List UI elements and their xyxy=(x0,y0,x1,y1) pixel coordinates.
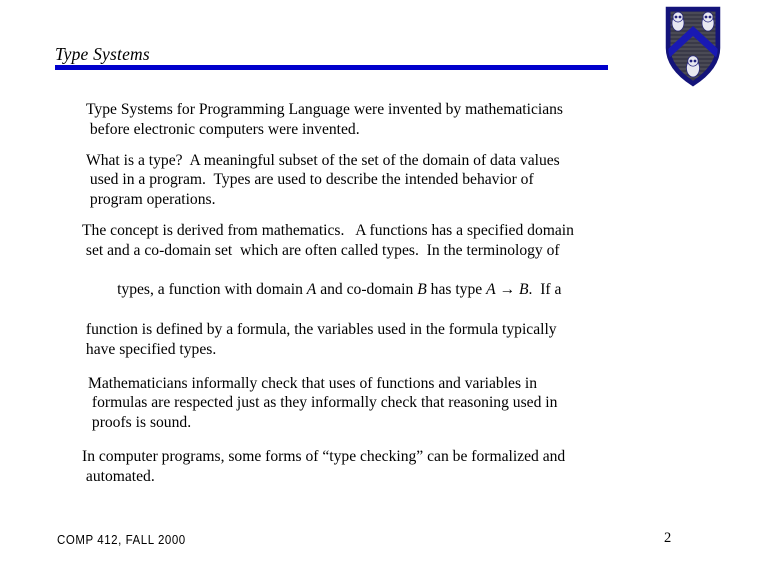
footer-course-label: COMP 412, FALL 2000 xyxy=(57,533,186,547)
arrow-glyph: → xyxy=(496,281,519,298)
paragraph-3-line-3-seg-d: . If a xyxy=(529,281,562,298)
paragraph-2: What is a type? A meaningful subset of t… xyxy=(86,151,675,210)
paragraph-5-line-2: automated. xyxy=(82,467,675,487)
page-title: Type Systems xyxy=(55,44,615,64)
paragraph-3-line-4: function is defined by a formula, the va… xyxy=(82,320,675,340)
paragraph-4-line-3: proofs is sound. xyxy=(88,413,675,433)
paragraph-1-line-1: Type Systems for Programming Language we… xyxy=(86,100,675,120)
math-var-b-2: B xyxy=(519,281,529,298)
math-var-a-2: A xyxy=(486,281,496,298)
footer-page-number: 2 xyxy=(664,530,671,547)
paragraph-3-line-3-seg-c: has type xyxy=(427,281,486,298)
paragraph-1: Type Systems for Programming Language we… xyxy=(86,100,675,140)
title-divider-rule xyxy=(55,65,608,70)
rice-university-shield-icon xyxy=(665,6,721,88)
paragraph-3-line-3-seg-a: types, a function with domain xyxy=(113,281,307,298)
slide-body: Type Systems for Programming Language we… xyxy=(55,100,675,496)
paragraph-2-line-2: used in a program. Types are used to des… xyxy=(86,170,675,190)
paragraph-4-line-2: formulas are respected just as they info… xyxy=(88,393,675,413)
paragraph-3: The concept is derived from mathematics.… xyxy=(82,221,675,360)
paragraph-2-line-3: program operations. xyxy=(86,190,675,210)
paragraph-4: Mathematicians informally check that use… xyxy=(88,374,675,433)
paragraph-4-line-1: Mathematicians informally check that use… xyxy=(88,374,675,394)
paragraph-1-line-2: before electronic computers were invente… xyxy=(86,120,675,140)
paragraph-5: In computer programs, some forms of “typ… xyxy=(82,447,675,487)
math-var-b-1: B xyxy=(417,281,427,298)
math-var-a-1: A xyxy=(307,281,317,298)
paragraph-2-line-1: What is a type? A meaningful subset of t… xyxy=(86,151,675,171)
paragraph-3-line-1: The concept is derived from mathematics.… xyxy=(82,221,675,241)
paragraph-3-line-5: have specified types. xyxy=(82,340,675,360)
title-block: Type Systems xyxy=(55,44,615,64)
paragraph-3-line-2: set and a co-domain set which are often … xyxy=(82,241,675,261)
paragraph-5-line-1: In computer programs, some forms of “typ… xyxy=(82,447,675,467)
slide: Type Systems xyxy=(0,0,768,576)
paragraph-3-line-3: types, a function with domain A and co-d… xyxy=(82,261,675,320)
paragraph-3-line-3-seg-b: and co-domain xyxy=(316,281,417,298)
